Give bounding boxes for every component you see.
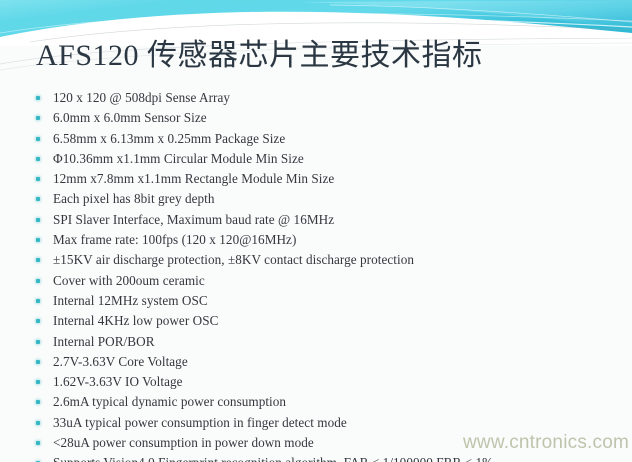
- list-item-label: 2.7V-3.63V Core Voltage: [53, 354, 188, 369]
- list-item: 1.62V-3.63V IO Voltage: [0, 372, 632, 392]
- list-item: 120 x 120 @ 508dpi Sense Array: [0, 88, 632, 108]
- list-item-label: 1.62V-3.63V IO Voltage: [53, 374, 183, 389]
- bullet-dot-icon: [36, 197, 40, 201]
- bullet-dot-icon: [36, 258, 40, 262]
- list-item-label: 120 x 120 @ 508dpi Sense Array: [53, 90, 230, 105]
- list-item-label: Φ10.36mm x1.1mm Circular Module Min Size: [53, 151, 304, 166]
- list-item: Φ10.36mm x1.1mm Circular Module Min Size: [0, 149, 632, 169]
- bullet-dot-icon: [36, 441, 40, 445]
- list-item: 6.0mm x 6.0mm Sensor Size: [0, 108, 632, 128]
- list-item: 6.58mm x 6.13mm x 0.25mm Package Size: [0, 129, 632, 149]
- list-item: 2.6mA typical dynamic power consumption: [0, 392, 632, 412]
- list-item: Internal 12MHz system OSC: [0, 291, 632, 311]
- list-item-label: Cover with 200oum ceramic: [53, 273, 205, 288]
- list-item: SPI Slaver Interface, Maximum baud rate …: [0, 210, 632, 230]
- list-item-label: Each pixel has 8bit grey depth: [53, 191, 215, 206]
- presentation-slide: AFS120 传感器芯片主要技术指标 120 x 120 @ 508dpi Se…: [0, 0, 632, 462]
- list-item: Internal POR/BOR: [0, 332, 632, 352]
- bullet-dot-icon: [36, 400, 40, 404]
- bullet-dot-icon: [36, 137, 40, 141]
- list-item: Each pixel has 8bit grey depth: [0, 189, 632, 209]
- bullet-dot-icon: [36, 96, 40, 100]
- list-item-label: Internal 4KHz low power OSC: [53, 313, 218, 328]
- bullet-dot-icon: [36, 177, 40, 181]
- list-item: Supports Vision4.0 Fingerprint recogniti…: [0, 453, 632, 462]
- bullet-dot-icon: [36, 421, 40, 425]
- bullet-dot-icon: [36, 238, 40, 242]
- list-item: 2.7V-3.63V Core Voltage: [0, 352, 632, 372]
- list-item-label: <28uA power consumption in power down mo…: [53, 435, 314, 450]
- list-item: Internal 4KHz low power OSC: [0, 311, 632, 331]
- bullet-dot-icon: [36, 340, 40, 344]
- list-item: ±15KV air discharge protection, ±8KV con…: [0, 250, 632, 270]
- list-item: Cover with 200oum ceramic: [0, 271, 632, 291]
- list-item-label: 2.6mA typical dynamic power consumption: [53, 394, 286, 409]
- specification-bullet-list: 120 x 120 @ 508dpi Sense Array6.0mm x 6.…: [0, 88, 632, 462]
- bullet-dot-icon: [36, 157, 40, 161]
- bullet-dot-icon: [36, 380, 40, 384]
- list-item-label: SPI Slaver Interface, Maximum baud rate …: [53, 212, 334, 227]
- list-item: 33uA typical power consumption in finger…: [0, 413, 632, 433]
- list-item-label: 33uA typical power consumption in finger…: [53, 415, 347, 430]
- page-title: AFS120 传感器芯片主要技术指标: [36, 36, 483, 76]
- list-item: Max frame rate: 100fps (120 x 120@16MHz): [0, 230, 632, 250]
- list-item-label: 6.0mm x 6.0mm Sensor Size: [53, 110, 207, 125]
- bullet-dot-icon: [36, 279, 40, 283]
- list-item-label: Internal 12MHz system OSC: [53, 293, 208, 308]
- list-item-label: Supports Vision4.0 Fingerprint recogniti…: [53, 455, 493, 462]
- title-container: AFS120 传感器芯片主要技术指标: [0, 36, 632, 80]
- site-watermark: www.cntronics.com: [463, 432, 629, 454]
- bullet-dot-icon: [36, 360, 40, 364]
- bullet-dot-icon: [36, 319, 40, 323]
- bullet-dot-icon: [36, 116, 40, 120]
- bullet-dot-icon: [36, 299, 40, 303]
- list-item: 12mm x7.8mm x1.1mm Rectangle Module Min …: [0, 169, 632, 189]
- bullet-dot-icon: [36, 218, 40, 222]
- list-item-label: 6.58mm x 6.13mm x 0.25mm Package Size: [53, 131, 285, 146]
- list-item-label: Max frame rate: 100fps (120 x 120@16MHz): [53, 232, 296, 247]
- list-item-label: 12mm x7.8mm x1.1mm Rectangle Module Min …: [53, 171, 334, 186]
- list-item-label: Internal POR/BOR: [53, 334, 155, 349]
- list-item-label: ±15KV air discharge protection, ±8KV con…: [53, 252, 414, 267]
